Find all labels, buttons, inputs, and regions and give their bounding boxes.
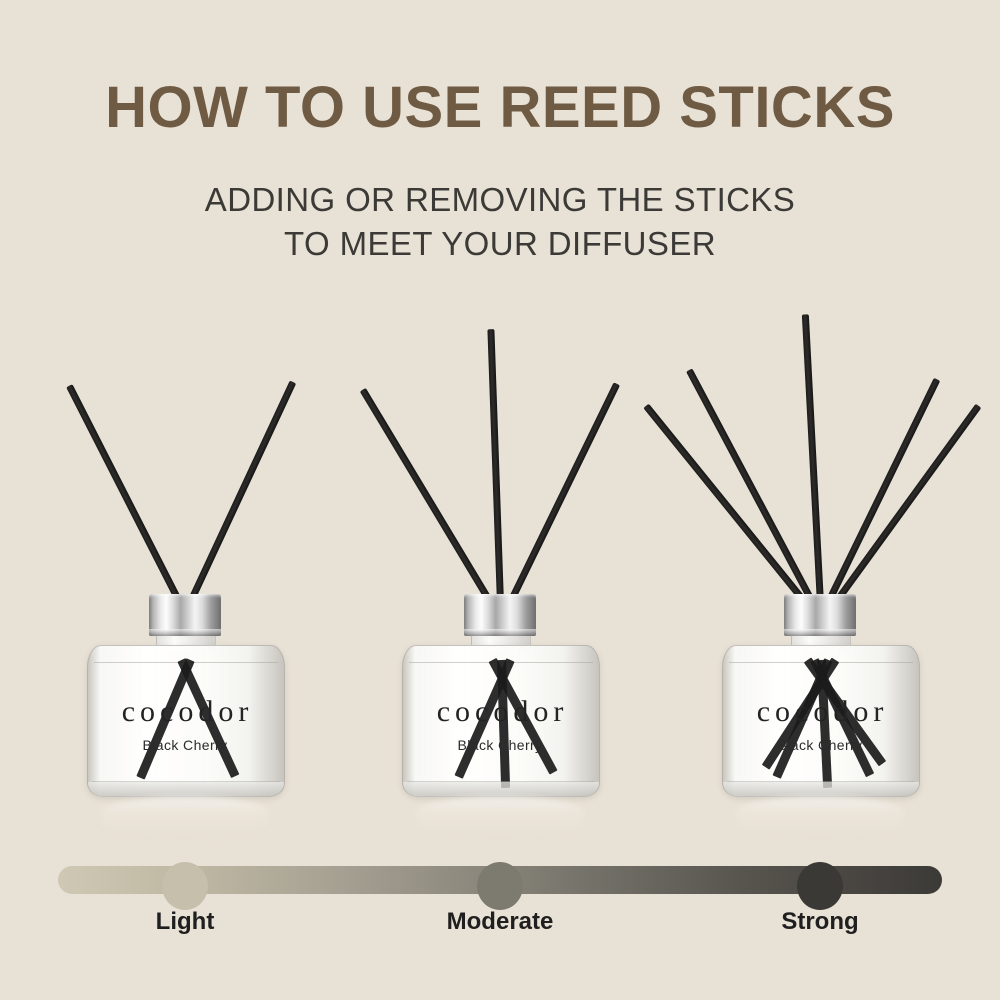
reed-stick [824,378,940,606]
reed-stick [685,368,816,605]
slider-label-row: LightModerateStrong [0,908,1000,948]
reed-stick [487,329,504,604]
glass-base-band [723,782,919,796]
brand-name: cocodor [87,695,283,729]
intensity-slider[interactable]: LightModerateStrong [0,855,1000,965]
brand-name: cocodor [722,695,918,729]
bottle-reflection [100,796,270,840]
slider-label-moderate: Moderate [447,908,554,936]
bottle-cap [464,594,536,636]
infographic-page: HOW TO USE REED STICKS ADDING OR REMOVIN… [0,0,1000,1000]
reed-stick [186,380,296,605]
brand-name: cocodor [402,695,598,729]
glass-base-band [403,782,599,796]
subtitle-line-2: TO MEET YOUR DIFFUSER [0,222,1000,266]
bottle-reflection [415,796,585,840]
page-subtitle: ADDING OR REMOVING THE STICKS TO MEET YO… [0,178,1000,265]
subtitle-line-1: ADDING OR REMOVING THE STICKS [0,178,1000,222]
slider-knob-moderate[interactable] [477,862,523,910]
glass-base-band [88,782,284,796]
slider-knob-strong[interactable] [797,862,843,910]
reed-stick [801,314,823,604]
bottle-cap [784,594,856,636]
reed-stick [359,388,494,606]
scent-name: Black Cherry [722,737,918,753]
bottle-cap [149,594,221,636]
slider-label-light: Light [156,908,215,936]
bottle-reflection [735,796,905,840]
page-title: HOW TO USE REED STICKS [0,78,1000,139]
slider-label-strong: Strong [781,908,858,936]
reed-stick [66,384,183,605]
slider-track[interactable] [58,866,942,894]
scent-name: Black Cherry [402,737,598,753]
scent-name: Black Cherry [87,737,283,753]
slider-knob-light[interactable] [162,862,208,910]
reed-stick [506,382,620,605]
